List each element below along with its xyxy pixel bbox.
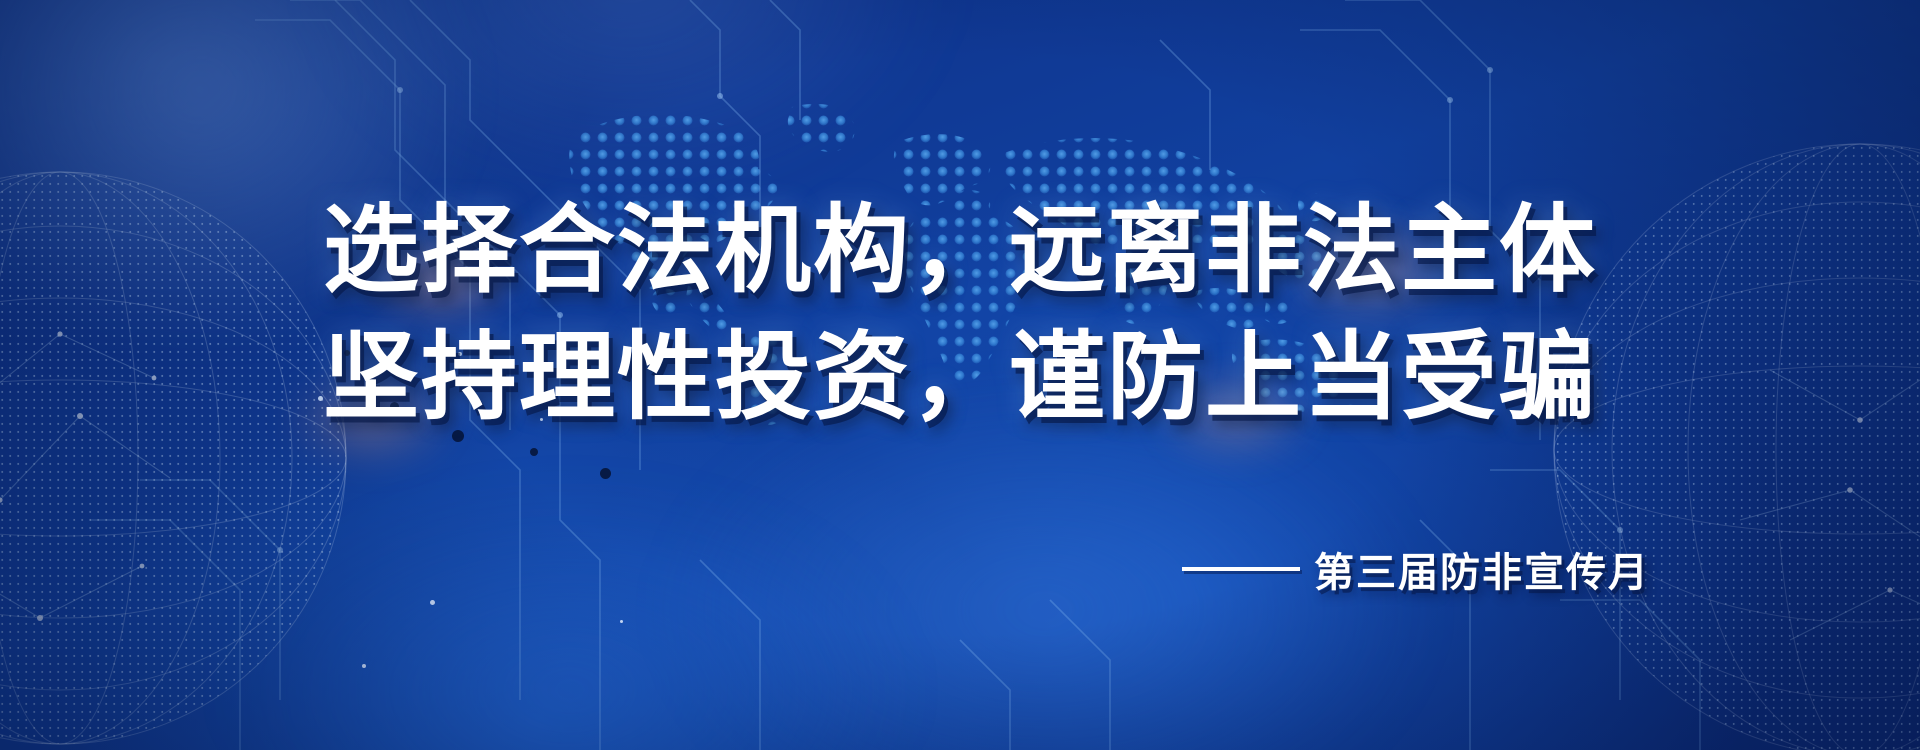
subtitle-block: 第三届防非宣传月 [1182, 540, 1650, 598]
particle [620, 620, 623, 623]
particle [430, 600, 435, 605]
particle-dark [600, 468, 611, 479]
subtitle-text: 第三届防非宣传月 [1314, 540, 1650, 598]
headline-block: 选择合法机构，远离非法主体 坚持理性投资，谨防上当受骗 [0, 188, 1920, 441]
particle [362, 664, 366, 668]
headline-line-2: 坚持理性投资，谨防上当受骗 [0, 315, 1920, 442]
headline-line-1: 选择合法机构，远离非法主体 [0, 188, 1920, 315]
particle-dark [530, 448, 538, 456]
promo-banner: 选择合法机构，远离非法主体 坚持理性投资，谨防上当受骗 第三届防非宣传月 [0, 0, 1920, 750]
subtitle-dash-rule [1182, 567, 1300, 571]
